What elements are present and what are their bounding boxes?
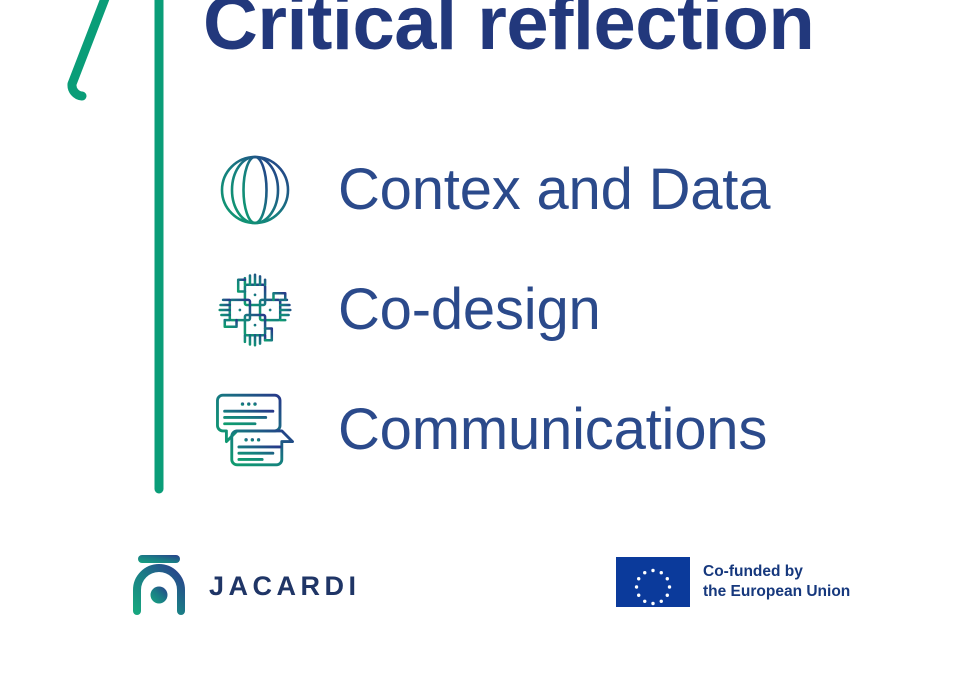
slide-canvas: Critical reflection Contex and Data [0,0,976,675]
eu-funding-line2: the European Union [703,583,850,600]
list-item: Co-design [200,250,960,370]
four-diagonal-stroke [72,0,116,96]
topic-list: Contex and Data [200,130,960,490]
list-item-label: Communications [338,401,767,459]
eu-funding-text: Co-funded by the European Union [703,562,850,602]
globe-icon [200,148,310,232]
four-hands-teamwork-icon [200,268,310,352]
list-item-label: Contex and Data [338,161,770,219]
eu-flag-icon [616,557,690,607]
eu-funding-line1: Co-funded by [703,563,803,580]
list-item-label: Co-design [338,281,601,339]
jacardi-logo: JACARDI [131,553,361,620]
list-item: Communications [200,370,960,490]
speech-bubbles-icon [200,388,310,472]
jacardi-wordmark: JACARDI [209,573,361,600]
jacardi-mark-icon [131,553,187,620]
eu-funding-logo: Co-funded by the European Union [616,557,850,607]
footer-logos: JACARDI [0,545,976,625]
page-title: Critical reflection [203,0,814,62]
list-item: Contex and Data [200,130,960,250]
